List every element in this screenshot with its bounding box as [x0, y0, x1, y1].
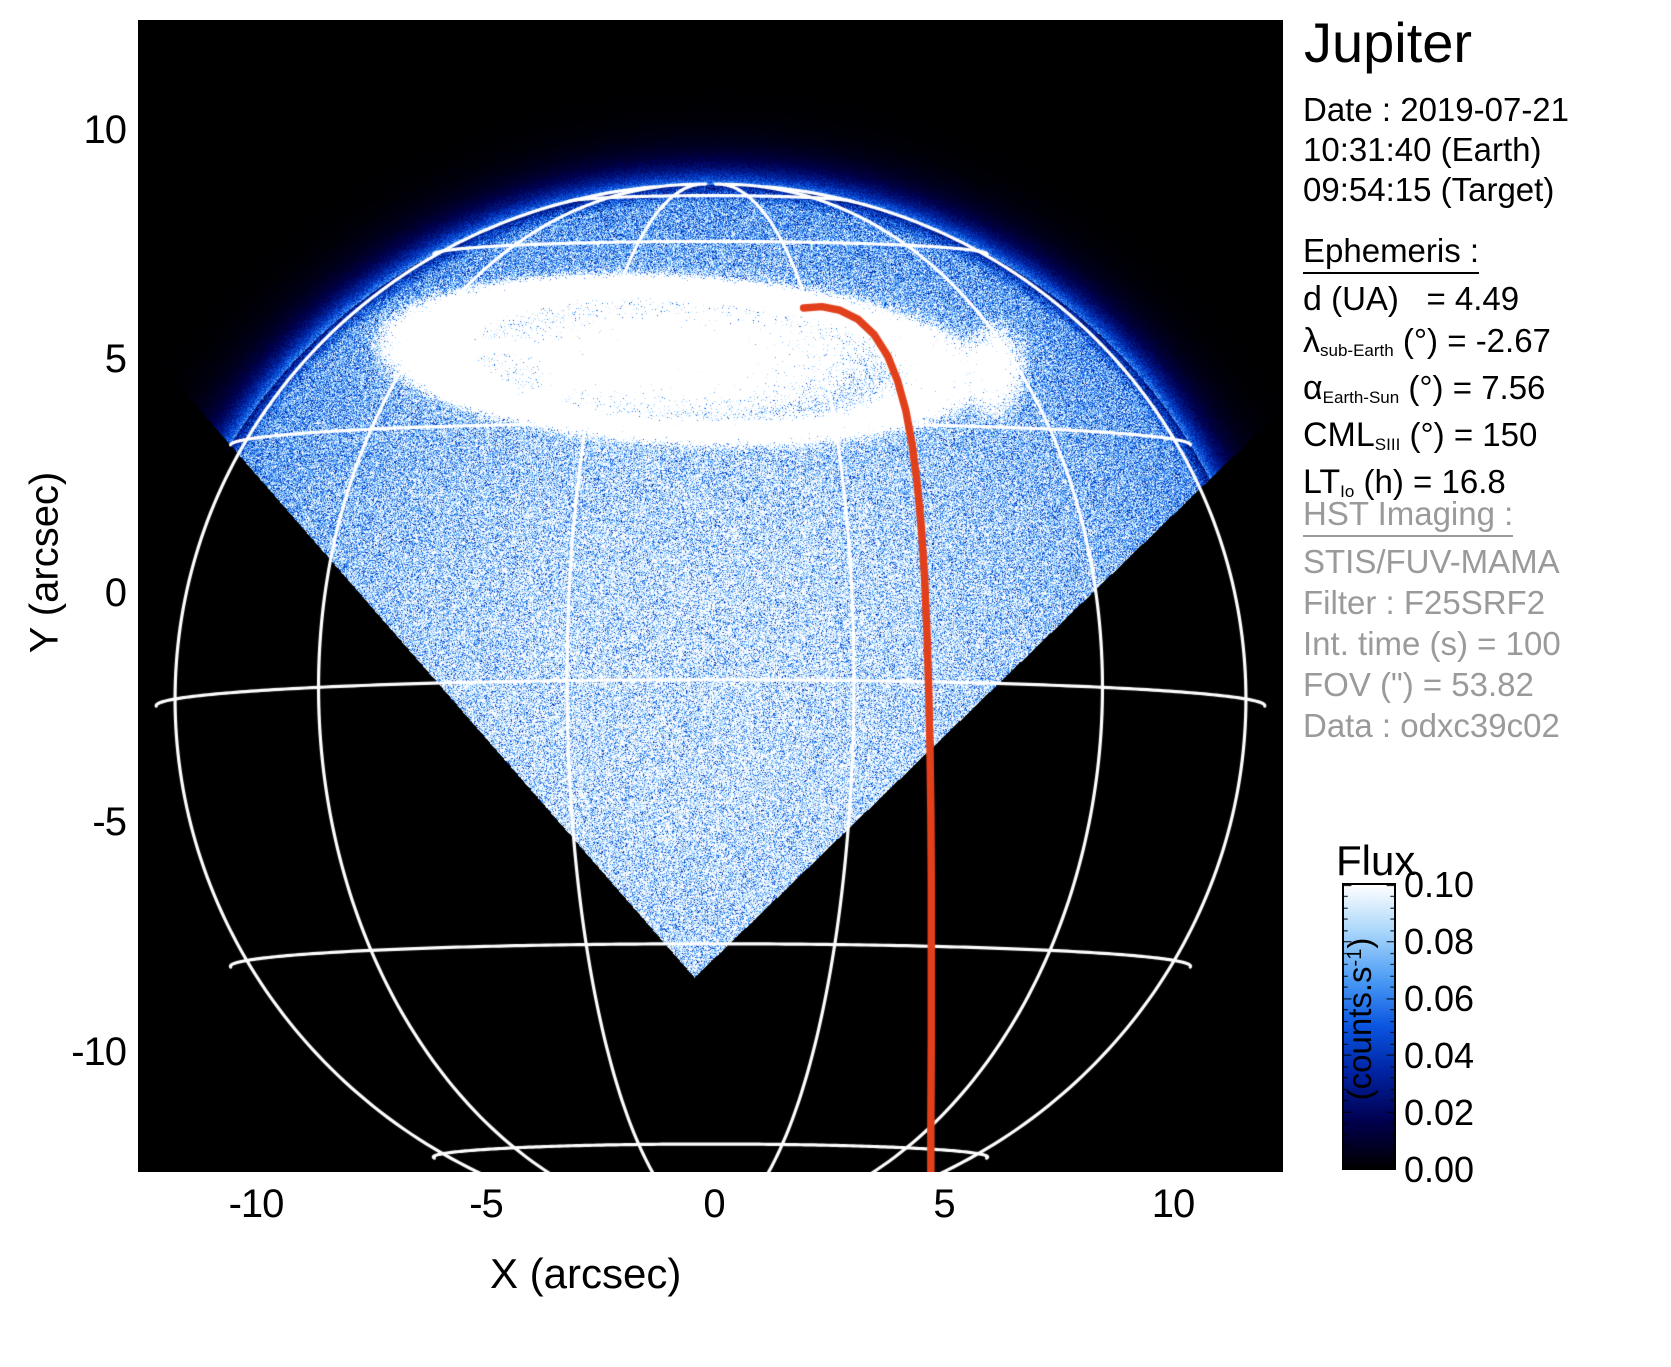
ephemeris-value: -2.67: [1476, 322, 1551, 359]
ephemeris-equals: =: [1426, 280, 1445, 317]
ephemeris-row-phase-angle: αEarth-Sun (°) = 7.56: [1303, 367, 1551, 414]
colorbar-tick-label: 0.02: [1404, 1092, 1474, 1134]
hst-imaging-block: HST Imaging : STIS/FUV-MAMA Filter : F25…: [1303, 495, 1561, 746]
x-tick-label: 5: [884, 1182, 1004, 1227]
x-tick-label: -5: [426, 1182, 546, 1227]
ephemeris-row-cml: CMLSIII (°) = 150: [1303, 414, 1551, 461]
ephemeris-symbol: CML: [1303, 416, 1375, 454]
hst-imaging-heading: HST Imaging :: [1303, 495, 1513, 537]
ephemeris-equals: =: [1447, 322, 1466, 359]
y-tick-label: 5: [16, 337, 126, 382]
colorbar-tick-label: 0.08: [1404, 921, 1474, 963]
ephemeris-row-sub-earth-longitude: λsub-Earth (°) = -2.67: [1303, 320, 1551, 367]
ephemeris-subscript: Earth-Sun: [1323, 388, 1400, 407]
ephemeris-unit: (°): [1403, 322, 1438, 359]
observation-time-target: 09:54:15 (Target): [1303, 170, 1569, 210]
ephemeris-row-distance: d (UA) = 4.49: [1303, 278, 1551, 320]
colorbar-unit-suffix: ): [1341, 938, 1378, 949]
ephemeris-symbol: d: [1303, 280, 1322, 318]
y-tick-label: -5: [16, 800, 126, 845]
ephemeris-value: 4.49: [1455, 280, 1519, 317]
x-tick-label: 0: [654, 1182, 774, 1227]
x-tick-label: 10: [1113, 1182, 1233, 1227]
colorbar-unit-prefix: (counts.s: [1341, 966, 1378, 1100]
ephemeris-unit: (UA): [1331, 280, 1399, 317]
hst-dataset-id: Data : odxc39c02: [1303, 705, 1561, 746]
observation-block: Date : 2019-07-21 10:31:40 (Earth) 09:54…: [1303, 90, 1569, 210]
hst-filter: Filter : F25SRF2: [1303, 582, 1561, 623]
ephemeris-unit: (°): [1408, 369, 1443, 406]
y-tick-label: 10: [16, 108, 126, 153]
ephemeris-subscript: sub-Earth: [1320, 341, 1394, 360]
ephemeris-value: 150: [1482, 416, 1537, 453]
x-axis-label: X (arcsec): [490, 1250, 681, 1298]
y-axis-label: Y (arcsec): [23, 413, 68, 713]
ephemeris-value: 7.56: [1481, 369, 1545, 406]
aurora-image-canvas: [138, 20, 1283, 1172]
colorbar-tick-label: 0.00: [1404, 1149, 1474, 1191]
hst-field-of-view: FOV (") = 53.82: [1303, 664, 1561, 705]
ephemeris-symbol: α: [1303, 369, 1323, 407]
colorbar-tick-label: 0.04: [1404, 1035, 1474, 1077]
ephemeris-unit: (°): [1409, 416, 1444, 453]
colorbar-unit-exponent: -1: [1344, 949, 1366, 967]
x-tick-label: -10: [196, 1182, 316, 1227]
ephemeris-equals: =: [1453, 369, 1472, 406]
ephemeris-heading: Ephemeris :: [1303, 232, 1479, 274]
ephemeris-equals: =: [1454, 416, 1473, 453]
ephemeris-symbol: λ: [1303, 322, 1320, 360]
colorbar-tick-label: 0.06: [1404, 978, 1474, 1020]
colorbar-unit-label: (counts.s-1): [1341, 889, 1379, 1149]
observation-date: Date : 2019-07-21: [1303, 90, 1569, 130]
page-title: Jupiter: [1304, 10, 1472, 75]
colorbar-tick-label: 0.10: [1404, 864, 1474, 906]
y-tick-label: -10: [16, 1030, 126, 1075]
ephemeris-subscript: SIII: [1375, 435, 1401, 454]
hst-instrument: STIS/FUV-MAMA: [1303, 541, 1561, 582]
plot-area: [138, 20, 1283, 1172]
info-panel: Jupiter Date : 2019-07-21 10:31:40 (Eart…: [1300, 0, 1671, 1367]
observation-time-earth: 10:31:40 (Earth): [1303, 130, 1569, 170]
hst-integration-time: Int. time (s) = 100: [1303, 623, 1561, 664]
ephemeris-block: Ephemeris : d (UA) = 4.49 λsub-Earth (°)…: [1303, 232, 1551, 508]
